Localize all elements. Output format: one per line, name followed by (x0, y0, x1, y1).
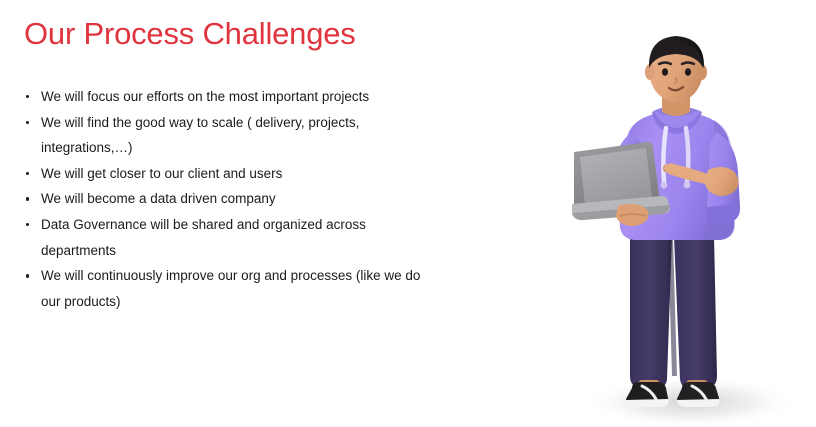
list-item: We will find the good way to scale ( del… (24, 110, 424, 161)
slide: Our Process Challenges We will focus our… (0, 0, 816, 427)
list-item: We will become a data driven company (24, 186, 424, 212)
list-item: We will focus our efforts on the most im… (24, 84, 424, 110)
list-item: Data Governance will be shared and organ… (24, 212, 424, 263)
page-title: Our Process Challenges (24, 14, 356, 54)
list-item: We will get closer to our client and use… (24, 161, 424, 187)
legs (630, 236, 717, 388)
list-item: We will continuously improve our org and… (24, 263, 424, 314)
bullet-list: We will focus our efforts on the most im… (24, 84, 424, 314)
head (645, 36, 707, 102)
person-holding-laptop-illustration (556, 24, 816, 427)
holding-hand (616, 204, 648, 226)
